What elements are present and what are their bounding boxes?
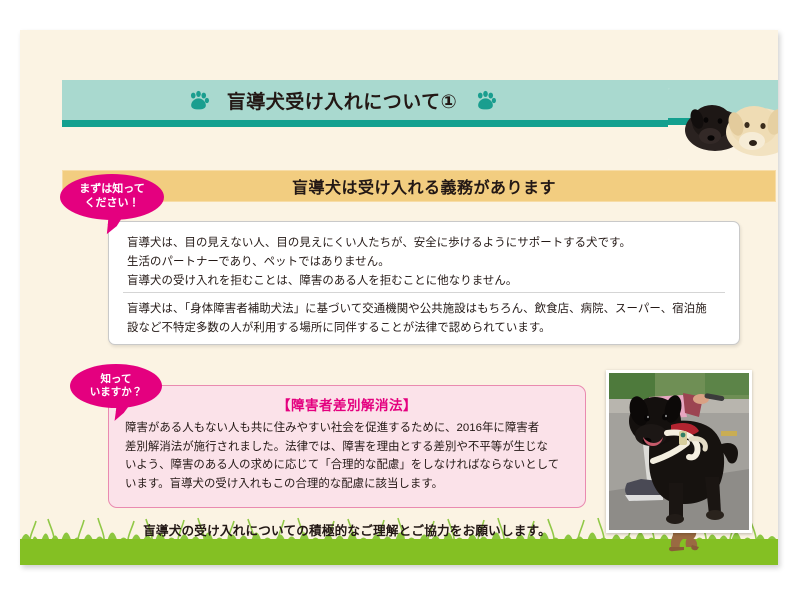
subtitle-banner: 盲導犬は受け入れる義務があります xyxy=(62,170,776,202)
info-line: 盲導犬は、「身体障害者補助犬法」に基づいて交通機関や公共施設はもちろん、飲食店、… xyxy=(127,300,723,319)
poster-root: 盲導犬受け入れについて① xyxy=(0,0,800,600)
bubble-first-line2: ください！ xyxy=(85,197,140,211)
grass-base xyxy=(20,539,778,565)
bubble-second-line2: いますか？ xyxy=(90,386,143,399)
info-line: 盲導犬は、目の見えない人、目の見えにくい人たちが、安全に歩けるようにサポートする… xyxy=(127,234,723,253)
info-line: 設など不特定多数の人が利用する場所に同伴することが法律で認められています。 xyxy=(127,319,723,338)
bubble-first-tail xyxy=(107,211,125,236)
bubble-second-line1: 知って xyxy=(101,373,132,386)
info-paragraph-1: 盲導犬は、目の見えない人、目の見えにくい人たちが、安全に歩けるようにサポートする… xyxy=(127,234,723,291)
info-separator xyxy=(123,292,725,293)
info-box: 盲導犬は、目の見えない人、目の見えにくい人たちが、安全に歩けるようにサポートする… xyxy=(108,221,740,345)
bubble-second: 知って いますか？ xyxy=(70,364,162,408)
content-panel: 盲導犬受け入れについて① xyxy=(20,30,778,565)
closing-message: 盲導犬の受け入れについての積極的なご理解とご協力をお願いします。 xyxy=(108,520,586,539)
info-line: 生活のパートナーであり、ペットではありません。 xyxy=(127,253,723,272)
law-box-body: 障害がある人もない人も共に住みやすい社会を促進するために、2016年に障害者 差… xyxy=(125,419,571,493)
law-box-title: 【障害者差別解消法】 xyxy=(109,394,585,414)
bubble-first-line1: まずは知って xyxy=(79,183,144,197)
info-paragraph-2: 盲導犬は、「身体障害者補助犬法」に基づいて交通機関や公共施設はもちろん、飲食店、… xyxy=(127,300,723,338)
law-line: います。盲導犬の受け入れもこの合理的な配慮に該当します。 xyxy=(125,475,571,494)
header-title-group: 盲導犬受け入れについて① xyxy=(62,80,622,120)
law-line: 障害がある人もない人も共に住みやすい社会を促進するために、2016年に障害者 xyxy=(125,419,571,438)
page-title: 盲導犬受け入れについて① xyxy=(227,87,458,114)
puppies-photo xyxy=(668,88,778,160)
info-line: 盲導犬の受け入れを拒むことは、障害のある人を拒むことに他なりません。 xyxy=(127,272,723,291)
law-line: いよう、障害のある人の求めに応じて「合理的な配慮」をしなければならないとして xyxy=(125,456,571,475)
bubble-second-tail xyxy=(115,399,133,423)
law-line: 差別解消法が施行されました。法律では、障害を理由とする差別や不平等が生じな xyxy=(125,438,571,457)
guide-dog-photo xyxy=(606,370,752,533)
paw-print-icon xyxy=(475,90,496,111)
subtitle-text: 盲導犬は受け入れる義務があります xyxy=(292,174,556,198)
paw-print-icon xyxy=(188,90,209,111)
law-box: 【障害者差別解消法】 障害がある人もない人も共に住みやすい社会を促進するために、… xyxy=(108,385,586,508)
